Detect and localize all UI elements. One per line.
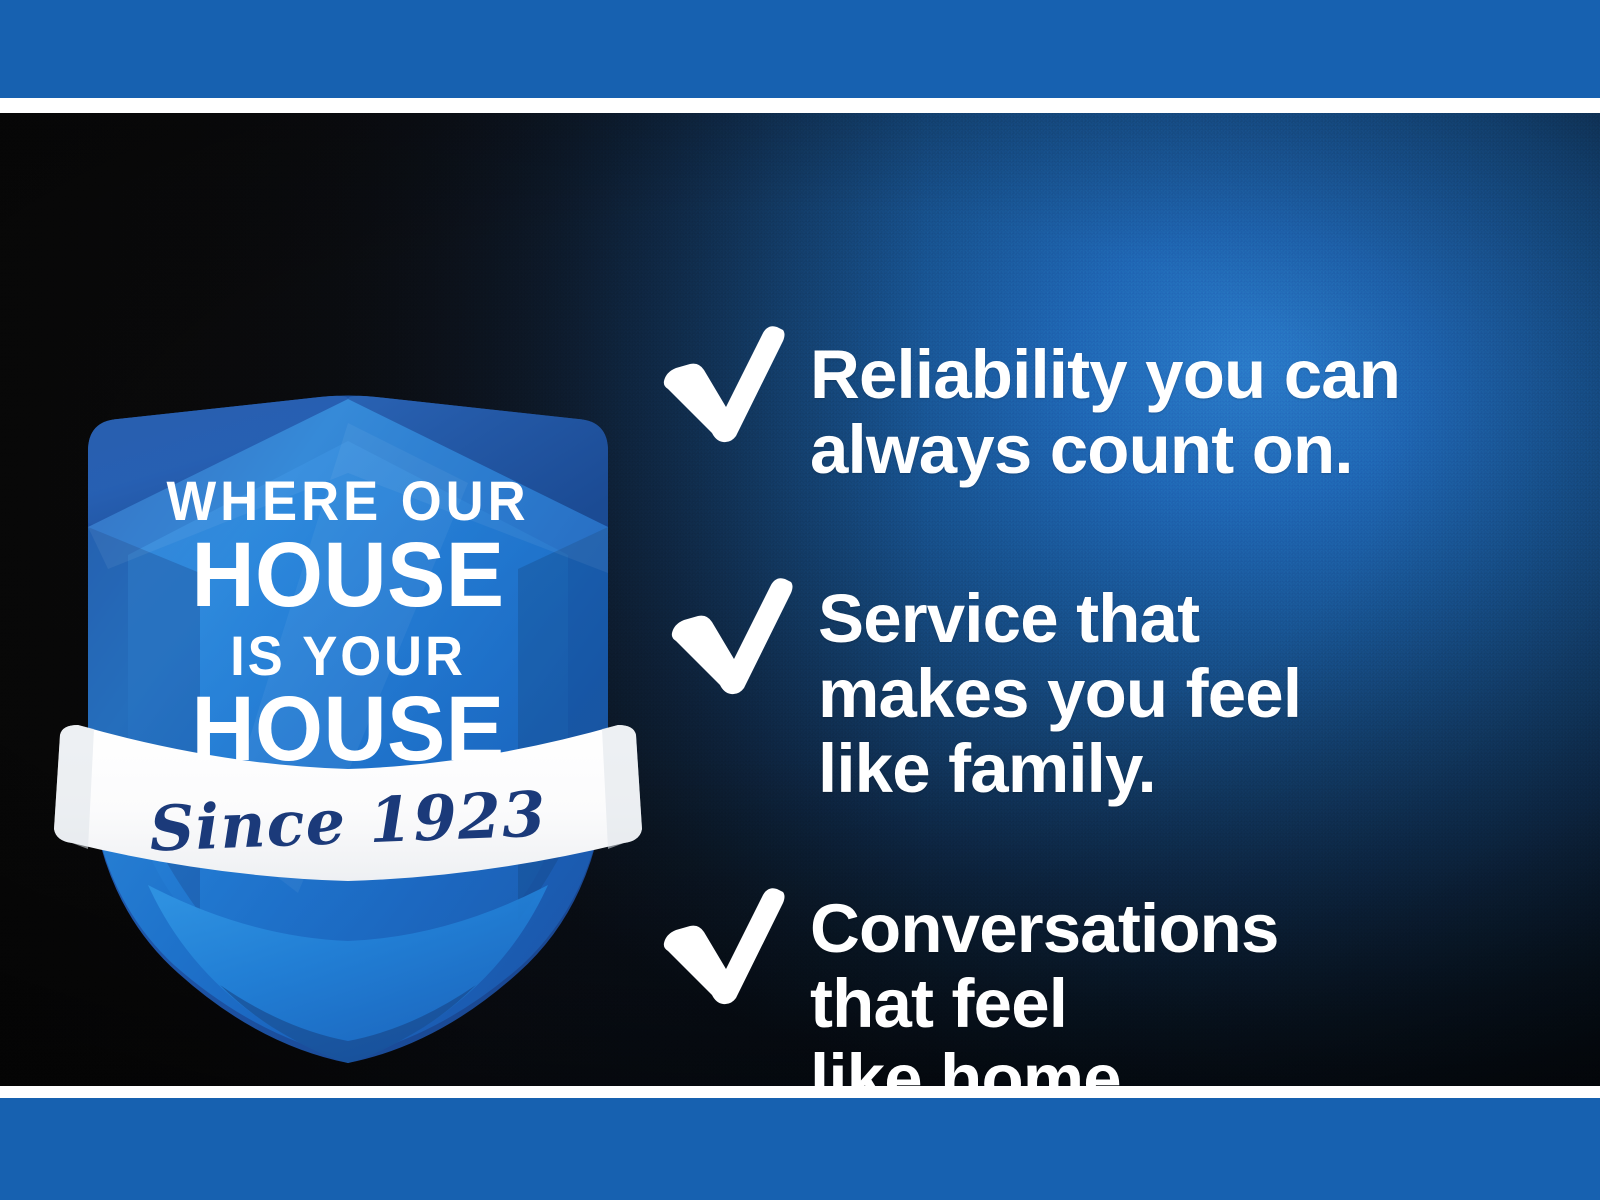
benefit-text-1: Reliability you can always count on. xyxy=(810,323,1400,487)
checkmark-icon xyxy=(660,885,786,1005)
benefit-text-2: Service that makes you feel like family. xyxy=(818,575,1301,807)
benefit-text-3: Conversations that feel like home. xyxy=(810,885,1279,1088)
main-content-panel: Where Our House Is Your House Since 1923… xyxy=(0,113,1600,1088)
benefit-item-2: Service that makes you feel like family. xyxy=(668,575,1301,807)
shield-body xyxy=(88,396,608,1064)
shield-badge: Where Our House Is Your House Since 1923 xyxy=(48,273,648,1063)
checkmark-icon xyxy=(660,323,786,443)
benefit-item-3: Conversations that feel like home. xyxy=(660,885,1279,1088)
checkmark-icon xyxy=(668,575,794,695)
benefit-item-1: Reliability you can always count on. xyxy=(660,323,1400,487)
top-brand-bar xyxy=(0,0,1600,98)
bottom-brand-bar xyxy=(0,1098,1600,1200)
top-divider xyxy=(0,98,1600,114)
promo-graphic: Where Our House Is Your House Since 1923… xyxy=(0,0,1600,1200)
